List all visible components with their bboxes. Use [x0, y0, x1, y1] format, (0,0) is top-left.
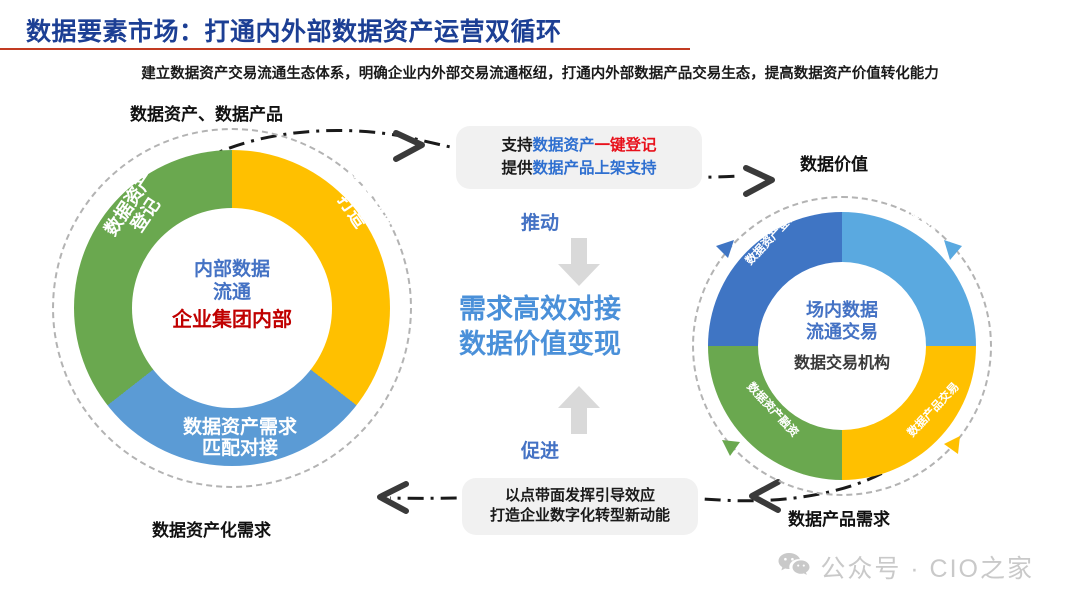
callout-bottom-line2: 打造企业数字化转型新动能 — [472, 506, 688, 526]
callout-top-line2: 提供数据产品上架支持 — [466, 157, 692, 180]
wechat-icon — [778, 552, 810, 583]
label-promote: 促进 — [0, 436, 1080, 463]
left-center-line1: 内部数据 — [132, 258, 332, 281]
callout-top: 支持数据资产一键登记 提供数据产品上架支持 — [456, 126, 702, 189]
callout-top-l1-seg3: 一键登记 — [595, 137, 657, 154]
title-divider — [0, 48, 690, 50]
callout-top-l1-seg2: 数据资产 — [532, 137, 594, 154]
flow-label-assets-products: 数据资产、数据产品 — [130, 100, 283, 125]
flow-label-data-value: 数据价值 — [800, 150, 868, 175]
callout-bottom: 以点带面发挥引导效应 打造企业数字化转型新动能 — [462, 478, 698, 535]
flow-arrow-head-top-right — [746, 168, 772, 194]
flow-label-product-demand: 数据产品需求 — [788, 505, 890, 530]
callout-top-l2-seg1: 提供 — [501, 160, 532, 177]
watermark-text: 公众号 · CIO之家 — [820, 549, 1034, 585]
page-title: 数据要素市场：打通内外部数据资产运营双循环 — [26, 12, 562, 48]
arrow-up-icon — [556, 386, 602, 434]
flow-arrow-head-bottom-left — [380, 484, 406, 511]
arrow-down-icon — [556, 238, 602, 286]
callout-top-l2-seg2: 数据产品上架支持 — [533, 160, 657, 177]
center-headline: 需求高效对接 数据价值变现 — [0, 292, 1080, 361]
page-subtitle: 建立数据资产交易流通生态体系，明确企业内外部交易流通枢纽，打通内外部数据产品交易… — [0, 62, 1080, 83]
watermark: 公众号 · CIO之家 — [778, 549, 1034, 585]
center-headline-line1: 需求高效对接 — [0, 292, 1080, 327]
center-headline-line2: 数据价值变现 — [0, 327, 1080, 362]
flow-label-assetization-demand: 数据资产化需求 — [152, 516, 271, 541]
callout-bottom-line1: 以点带面发挥引导效应 — [472, 486, 688, 506]
callout-top-l1-seg1: 支持 — [501, 137, 532, 154]
label-push: 推动 — [0, 208, 1080, 235]
callout-top-line1: 支持数据资产一键登记 — [466, 134, 692, 157]
